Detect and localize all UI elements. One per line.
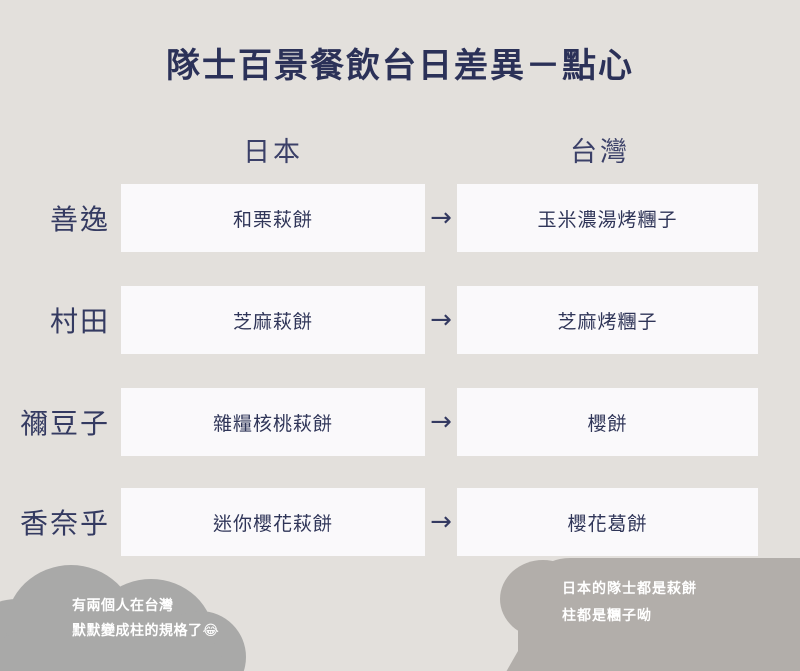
cell-japan: 和栗萩餅 (121, 184, 425, 252)
arrow-right-icon: → (425, 388, 457, 456)
bubble-line-2: 柱都是糰子呦 (562, 603, 792, 630)
bubble-line-2-text: 默默變成柱的規格了 (72, 623, 203, 639)
arrow-right-icon: → (425, 286, 457, 354)
cell-taiwan: 芝麻烤糰子 (457, 286, 758, 354)
cell-taiwan: 櫻餅 (457, 388, 758, 456)
bubble-line-2: 默默變成柱的規格了😂 (72, 619, 282, 644)
table-row: 善逸 和栗萩餅 → 玉米濃湯烤糰子 (0, 184, 800, 252)
page-title: 隊士百景餐飲台日差異－點心 (0, 38, 800, 87)
table-row: 香奈乎 迷你櫻花萩餅 → 櫻花葛餅 (0, 488, 800, 556)
cell-taiwan: 玉米濃湯烤糰子 (457, 184, 758, 252)
column-header-japan: 日本 (243, 130, 303, 169)
bubble-line-1: 有兩個人在台灣 (72, 594, 282, 619)
row-label: 禰豆子 (0, 388, 110, 456)
speech-bubble-right-text: 日本的隊士都是萩餅 柱都是糰子呦 (562, 576, 792, 629)
column-header-taiwan: 台灣 (570, 130, 630, 169)
table-row: 村田 芝麻萩餅 → 芝麻烤糰子 (0, 286, 800, 354)
cell-japan: 迷你櫻花萩餅 (121, 488, 425, 556)
bubble-line-1: 日本的隊士都是萩餅 (562, 576, 792, 603)
cell-japan: 雜糧核桃萩餅 (121, 388, 425, 456)
arrow-right-icon: → (425, 488, 457, 556)
infographic-page: 隊士百景餐飲台日差異－點心 日本 台灣 善逸 和栗萩餅 → 玉米濃湯烤糰子 村田… (0, 0, 800, 671)
row-label: 村田 (0, 286, 110, 354)
laughing-emoji-icon: 😂 (203, 623, 220, 639)
table-row: 禰豆子 雜糧核桃萩餅 → 櫻餅 (0, 388, 800, 456)
row-label: 善逸 (0, 184, 110, 252)
cell-taiwan: 櫻花葛餅 (457, 488, 758, 556)
speech-bubble-right: 日本的隊士都是萩餅 柱都是糰子呦 (488, 558, 800, 671)
speech-bubble-left-text: 有兩個人在台灣 默默變成柱的規格了😂 (72, 594, 282, 643)
row-label: 香奈乎 (0, 488, 110, 556)
arrow-right-icon: → (425, 184, 457, 252)
cell-japan: 芝麻萩餅 (121, 286, 425, 354)
